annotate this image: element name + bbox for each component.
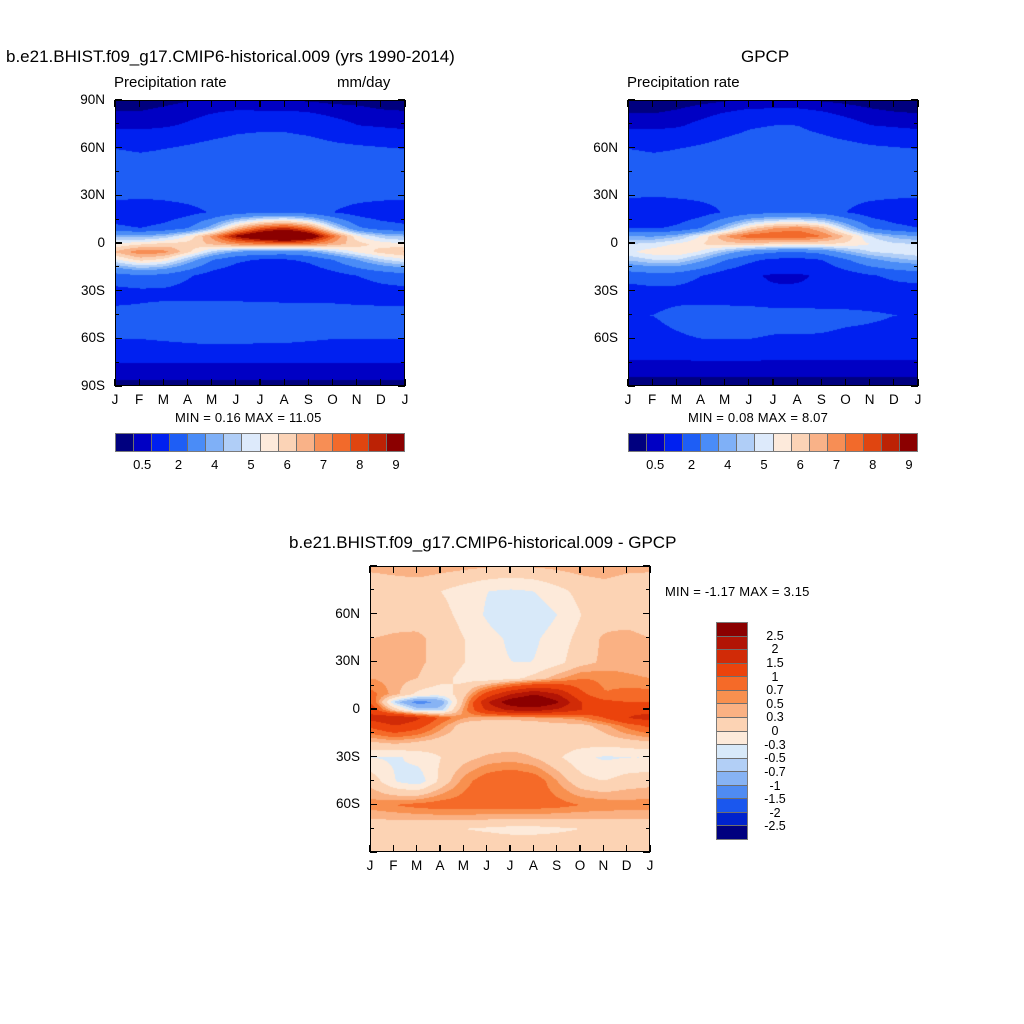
colorbar-swatch [791, 434, 809, 451]
x-axis-tick [463, 845, 464, 852]
x-axis-label: S [298, 393, 318, 407]
x-axis-label: O [323, 393, 343, 407]
x-axis-label: A [430, 859, 450, 873]
colorbar-swatch [629, 434, 646, 451]
obs-colorbar [628, 433, 918, 452]
x-axis-label: O [836, 393, 856, 407]
y-axis-label: 90S [59, 379, 105, 393]
x-axis-label: M [153, 393, 173, 407]
obs-minmax-label: MIN = 0.08 MAX = 8.07 [688, 411, 828, 424]
colorbar-swatch [736, 434, 754, 451]
x-axis-tick [845, 379, 846, 386]
model-minmax-label: MIN = 0.16 MAX = 11.05 [175, 411, 322, 424]
x-axis-label: J [477, 859, 497, 873]
x-axis-label: J [618, 393, 638, 407]
y-axis-label: 60N [59, 141, 105, 155]
y-axis-tick [398, 242, 405, 243]
x-axis-label: M [715, 393, 735, 407]
y-axis-minor-tick [914, 171, 918, 172]
colorbar-tick-label: 4 [724, 458, 731, 471]
y-axis-label: 30S [572, 284, 618, 298]
y-axis-tick [628, 147, 635, 148]
y-axis-tick [911, 147, 918, 148]
colorbar-tick-label: 9 [905, 458, 912, 471]
model-colorbar [115, 433, 405, 452]
model-panel-title: b.e21.BHIST.f09_g17.CMIP6-historical.009… [6, 48, 455, 65]
colorbar-swatch [717, 771, 747, 785]
y-axis-minor-tick [115, 314, 119, 315]
colorbar-swatch [717, 703, 747, 717]
y-axis-minor-tick [628, 362, 632, 363]
y-axis-label: 30S [59, 284, 105, 298]
x-axis-label: D [884, 393, 904, 407]
x-axis-tick [556, 845, 557, 852]
x-axis-tick [393, 566, 394, 573]
y-axis-tick [370, 851, 377, 852]
x-axis-tick [772, 100, 773, 107]
x-axis-tick [235, 379, 236, 386]
colorbar-swatch [863, 434, 881, 451]
x-axis-tick [509, 845, 510, 852]
model-variable-label: Precipitation rate [114, 75, 227, 90]
colorbar-swatch [717, 676, 747, 690]
x-axis-tick [700, 100, 701, 107]
colorbar-tick-label: 5 [760, 458, 767, 471]
x-axis-label: N [593, 859, 613, 873]
y-axis-tick [398, 338, 405, 339]
x-axis-label: M [202, 393, 222, 407]
x-axis-tick [700, 379, 701, 386]
x-axis-tick [284, 379, 285, 386]
x-axis-tick [772, 379, 773, 386]
x-axis-tick [380, 379, 381, 386]
y-axis-minor-tick [914, 314, 918, 315]
x-axis-label: J [763, 393, 783, 407]
colorbar-tick-label: 7 [320, 458, 327, 471]
x-axis-tick [259, 100, 260, 107]
y-axis-minor-tick [370, 685, 374, 686]
y-axis-minor-tick [646, 732, 650, 733]
colorbar-swatch [133, 434, 151, 451]
y-axis-tick [911, 242, 918, 243]
colorbar-swatch [881, 434, 899, 451]
colorbar-swatch [169, 434, 187, 451]
x-axis-tick [627, 100, 628, 107]
x-axis-tick [676, 379, 677, 386]
colorbar-tick-label: 2 [175, 458, 182, 471]
y-axis-minor-tick [401, 123, 405, 124]
y-axis-tick [370, 565, 377, 566]
y-axis-tick [911, 195, 918, 196]
x-axis-tick [917, 100, 918, 107]
colorbar-swatch [717, 812, 747, 826]
colorbar-tick-label: -2.5 [752, 820, 798, 833]
x-axis-label: F [129, 393, 149, 407]
colorbar-swatch [827, 434, 845, 451]
x-axis-tick [869, 379, 870, 386]
y-axis-tick [643, 804, 650, 805]
y-axis-label: 60S [572, 331, 618, 345]
colorbar-tick-label: -0.7 [752, 766, 798, 779]
colorbar-swatch [386, 434, 404, 451]
colorbar-tick-label: 7 [833, 458, 840, 471]
obs-colorbar-labels: 0.52456789 [628, 458, 918, 474]
y-axis-minor-tick [914, 266, 918, 267]
y-axis-tick [628, 290, 635, 291]
colorbar-tick-label: -1.5 [752, 793, 798, 806]
y-axis-tick [643, 756, 650, 757]
x-axis-tick [404, 100, 405, 107]
y-axis-label: 60N [314, 607, 360, 621]
colorbar-tick-label: 0.5 [133, 458, 151, 471]
colorbar-tick-label: -0.3 [752, 738, 798, 751]
y-axis-label: 0 [59, 236, 105, 250]
colorbar-swatch [754, 434, 772, 451]
y-axis-tick [628, 99, 635, 100]
colorbar-swatch [314, 434, 332, 451]
y-axis-minor-tick [370, 828, 374, 829]
x-axis-tick [416, 845, 417, 852]
y-axis-label: 60S [314, 797, 360, 811]
x-axis-label: A [787, 393, 807, 407]
x-axis-tick [509, 566, 510, 573]
colorbar-swatch [717, 717, 747, 731]
y-axis-label: 30S [314, 750, 360, 764]
colorbar-swatch [717, 798, 747, 812]
y-axis-minor-tick [115, 266, 119, 267]
x-axis-tick [821, 100, 822, 107]
x-axis-label: N [347, 393, 367, 407]
x-axis-label: A [178, 393, 198, 407]
x-axis-tick [626, 845, 627, 852]
x-axis-tick [603, 566, 604, 573]
x-axis-tick [676, 100, 677, 107]
colorbar-swatch [151, 434, 169, 451]
y-axis-tick [370, 804, 377, 805]
x-axis-tick [259, 379, 260, 386]
x-axis-tick [356, 100, 357, 107]
y-axis-tick [628, 385, 635, 386]
y-axis-minor-tick [646, 780, 650, 781]
x-axis-label: J [640, 859, 660, 873]
x-axis-tick [649, 566, 650, 573]
diff-minmax-label: MIN = -1.17 MAX = 3.15 [665, 585, 810, 598]
x-axis-label: A [523, 859, 543, 873]
x-axis-tick [821, 379, 822, 386]
colorbar-swatch [241, 434, 259, 451]
colorbar-tick-label: -0.5 [752, 752, 798, 765]
obs-panel-title: GPCP [741, 48, 789, 65]
colorbar-swatch [700, 434, 718, 451]
x-axis-tick [748, 100, 749, 107]
colorbar-swatch [717, 663, 747, 677]
x-axis-label: J [250, 393, 270, 407]
y-axis-tick [370, 756, 377, 757]
x-axis-label: J [739, 393, 759, 407]
x-axis-label: J [226, 393, 246, 407]
x-axis-tick [869, 100, 870, 107]
y-axis-tick [115, 99, 122, 100]
y-axis-minor-tick [646, 828, 650, 829]
x-axis-tick [308, 379, 309, 386]
y-axis-tick [370, 708, 377, 709]
y-axis-tick [628, 242, 635, 243]
x-axis-label: M [453, 859, 473, 873]
model-units-label: mm/day [337, 75, 390, 90]
x-axis-tick [404, 379, 405, 386]
y-axis-label: 30N [572, 188, 618, 202]
colorbar-swatch [260, 434, 278, 451]
y-axis-tick [115, 147, 122, 148]
y-axis-label: 0 [572, 236, 618, 250]
colorbar-tick-label: 1.5 [752, 657, 798, 670]
x-axis-tick [486, 566, 487, 573]
diff-colorbar-labels: 2.521.510.70.50.30-0.3-0.5-0.7-1-1.5-2-2… [752, 622, 798, 840]
x-axis-tick [533, 845, 534, 852]
x-axis-tick [579, 845, 580, 852]
y-axis-minor-tick [370, 589, 374, 590]
colorbar-swatch [350, 434, 368, 451]
x-axis-tick [416, 566, 417, 573]
colorbar-swatch [205, 434, 223, 451]
colorbar-swatch [187, 434, 205, 451]
x-axis-tick [893, 379, 894, 386]
colorbar-swatch [332, 434, 350, 451]
colorbar-swatch [368, 434, 386, 451]
colorbar-swatch [717, 623, 747, 636]
x-axis-tick [369, 566, 370, 573]
colorbar-tick-label: 6 [284, 458, 291, 471]
colorbar-swatch [664, 434, 682, 451]
x-axis-tick [114, 100, 115, 107]
y-axis-label: 60N [572, 141, 618, 155]
colorbar-swatch [717, 785, 747, 799]
y-axis-minor-tick [646, 637, 650, 638]
x-axis-tick [627, 379, 628, 386]
y-axis-tick [398, 290, 405, 291]
x-axis-tick [652, 100, 653, 107]
colorbar-swatch [809, 434, 827, 451]
x-axis-tick [332, 100, 333, 107]
x-axis-tick [652, 379, 653, 386]
y-axis-label: 30N [59, 188, 105, 202]
x-axis-tick [748, 379, 749, 386]
colorbar-tick-label: -1 [752, 779, 798, 792]
colorbar-swatch [223, 434, 241, 451]
x-axis-label: M [407, 859, 427, 873]
colorbar-tick-label: 8 [869, 458, 876, 471]
colorbar-swatch [682, 434, 700, 451]
colorbar-tick-label: 0.5 [752, 698, 798, 711]
y-axis-minor-tick [370, 732, 374, 733]
y-axis-tick [370, 661, 377, 662]
colorbar-swatch [717, 825, 747, 839]
y-axis-minor-tick [401, 219, 405, 220]
colorbar-tick-label: 4 [211, 458, 218, 471]
colorbar-tick-label: 1 [752, 670, 798, 683]
x-axis-tick [163, 379, 164, 386]
y-axis-label: 90N [59, 93, 105, 107]
y-axis-minor-tick [646, 589, 650, 590]
diff-axes: 60N30N030S60SJFMAMJJASONDJ [370, 566, 650, 852]
y-axis-tick [628, 338, 635, 339]
colorbar-swatch [717, 636, 747, 650]
colorbar-swatch [278, 434, 296, 451]
y-axis-minor-tick [914, 123, 918, 124]
colorbar-tick-label: 0.3 [752, 711, 798, 724]
x-axis-tick [211, 100, 212, 107]
y-axis-minor-tick [401, 362, 405, 363]
x-axis-label: N [860, 393, 880, 407]
y-axis-minor-tick [628, 314, 632, 315]
colorbar-tick-label: 2.5 [752, 629, 798, 642]
y-axis-label: 0 [314, 702, 360, 716]
y-axis-minor-tick [914, 219, 918, 220]
y-axis-label: 30N [314, 654, 360, 668]
x-axis-tick [369, 845, 370, 852]
colorbar-tick-label: 2 [752, 643, 798, 656]
y-axis-label: 60S [59, 331, 105, 345]
x-axis-label: F [383, 859, 403, 873]
x-axis-tick [917, 379, 918, 386]
x-axis-tick [649, 845, 650, 852]
y-axis-tick [911, 290, 918, 291]
colorbar-swatch [717, 731, 747, 745]
y-axis-tick [115, 290, 122, 291]
x-axis-tick [284, 100, 285, 107]
colorbar-swatch [717, 649, 747, 663]
y-axis-minor-tick [115, 171, 119, 172]
y-axis-minor-tick [628, 219, 632, 220]
y-axis-tick [643, 661, 650, 662]
colorbar-tick-label: 0.7 [752, 684, 798, 697]
x-axis-label: D [371, 393, 391, 407]
x-axis-tick [187, 379, 188, 386]
y-axis-tick [643, 613, 650, 614]
x-axis-tick [393, 845, 394, 852]
x-axis-tick [439, 845, 440, 852]
y-axis-minor-tick [115, 219, 119, 220]
colorbar-swatch [717, 758, 747, 772]
x-axis-label: D [617, 859, 637, 873]
y-axis-tick [115, 385, 122, 386]
diff-panel-title: b.e21.BHIST.f09_g17.CMIP6-historical.009… [289, 534, 676, 551]
y-axis-minor-tick [370, 780, 374, 781]
colorbar-tick-label: 6 [797, 458, 804, 471]
x-axis-tick [797, 100, 798, 107]
y-axis-tick [628, 195, 635, 196]
x-axis-tick [626, 566, 627, 573]
y-axis-tick [398, 147, 405, 148]
y-axis-minor-tick [401, 171, 405, 172]
y-axis-minor-tick [370, 637, 374, 638]
x-axis-tick [556, 566, 557, 573]
x-axis-label: A [691, 393, 711, 407]
x-axis-tick [533, 566, 534, 573]
y-axis-minor-tick [628, 171, 632, 172]
x-axis-tick [139, 379, 140, 386]
colorbar-tick-label: 0 [752, 725, 798, 738]
model-colorbar-labels: 0.52456789 [115, 458, 405, 474]
colorbar-swatch [845, 434, 863, 451]
x-axis-tick [235, 100, 236, 107]
x-axis-label: F [642, 393, 662, 407]
x-axis-tick [603, 845, 604, 852]
x-axis-tick [356, 379, 357, 386]
y-axis-minor-tick [646, 685, 650, 686]
x-axis-tick [163, 100, 164, 107]
x-axis-label: S [811, 393, 831, 407]
colorbar-swatch [646, 434, 664, 451]
x-axis-label: J [105, 393, 125, 407]
y-axis-minor-tick [628, 123, 632, 124]
y-axis-tick [398, 195, 405, 196]
colorbar-tick-label: 9 [392, 458, 399, 471]
x-axis-label: J [395, 393, 415, 407]
y-axis-minor-tick [115, 123, 119, 124]
x-axis-tick [380, 100, 381, 107]
x-axis-tick [724, 100, 725, 107]
colorbar-swatch [717, 690, 747, 704]
x-axis-tick [308, 100, 309, 107]
y-axis-minor-tick [914, 362, 918, 363]
x-axis-label: J [360, 859, 380, 873]
x-axis-label: A [274, 393, 294, 407]
colorbar-tick-label: 5 [247, 458, 254, 471]
colorbar-tick-label: -2 [752, 807, 798, 820]
x-axis-label: S [547, 859, 567, 873]
y-axis-minor-tick [401, 314, 405, 315]
x-axis-label: M [666, 393, 686, 407]
x-axis-tick [893, 100, 894, 107]
obs-variable-label: Precipitation rate [627, 75, 740, 90]
x-axis-tick [139, 100, 140, 107]
x-axis-label: J [500, 859, 520, 873]
y-axis-tick [115, 338, 122, 339]
x-axis-tick [797, 379, 798, 386]
colorbar-tick-label: 0.5 [646, 458, 664, 471]
model-axes: 90N60N30N030S60S90SJFMAMJJASONDJ [115, 100, 405, 386]
y-axis-tick [115, 242, 122, 243]
y-axis-minor-tick [115, 362, 119, 363]
x-axis-tick [187, 100, 188, 107]
colorbar-swatch [899, 434, 917, 451]
x-axis-tick [463, 566, 464, 573]
colorbar-tick-label: 8 [356, 458, 363, 471]
y-axis-tick [643, 708, 650, 709]
colorbar-swatch [718, 434, 736, 451]
y-axis-tick [911, 338, 918, 339]
y-axis-tick [115, 195, 122, 196]
x-axis-tick [114, 379, 115, 386]
x-axis-label: J [908, 393, 928, 407]
diff-colorbar [716, 622, 748, 840]
x-axis-tick [486, 845, 487, 852]
colorbar-swatch [717, 744, 747, 758]
x-axis-label: O [570, 859, 590, 873]
colorbar-swatch [773, 434, 791, 451]
x-axis-tick [579, 566, 580, 573]
x-axis-tick [439, 566, 440, 573]
obs-axes: 60N30N030S60SJFMAMJJASONDJ [628, 100, 918, 386]
y-axis-minor-tick [628, 266, 632, 267]
colorbar-swatch [296, 434, 314, 451]
y-axis-tick [370, 613, 377, 614]
colorbar-swatch [116, 434, 133, 451]
colorbar-tick-label: 2 [688, 458, 695, 471]
x-axis-tick [211, 379, 212, 386]
x-axis-tick [845, 100, 846, 107]
